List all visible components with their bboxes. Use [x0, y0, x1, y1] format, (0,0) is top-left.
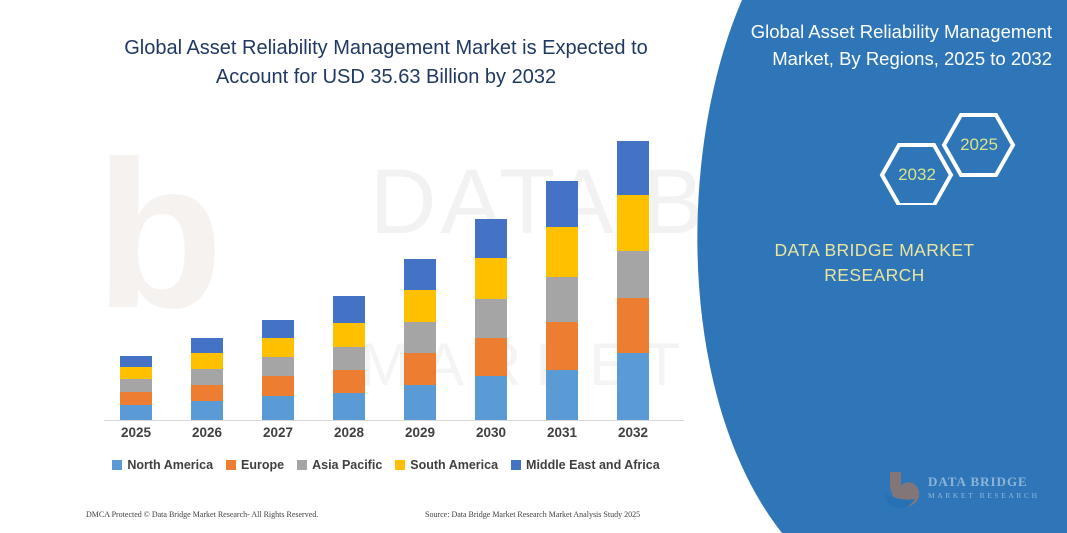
legend-swatch-icon: [112, 460, 122, 470]
bar-segment-asia-pacific: [262, 357, 294, 376]
bar-segment-south-america: [546, 227, 578, 277]
hexagon-group: 2032 2025: [667, 105, 1067, 205]
bar-segment-europe: [546, 322, 578, 370]
bar-segment-south-america: [333, 323, 365, 347]
x-label-2026: 2026: [177, 425, 237, 440]
legend-label: Europe: [241, 458, 284, 472]
hexagon-2025-label: 2025: [944, 135, 1014, 155]
bar-segment-middle-east-and-africa: [546, 181, 578, 227]
legend-item-south-america[interactable]: South America: [395, 458, 498, 472]
bar-segment-asia-pacific: [120, 379, 152, 392]
legend-label: South America: [410, 458, 498, 472]
bar-2031: [546, 181, 578, 420]
brand-name: DATA BRIDGE MARKET RESEARCH: [697, 238, 1052, 288]
legend-item-europe[interactable]: Europe: [226, 458, 284, 472]
x-label-2025: 2025: [106, 425, 166, 440]
logo-b-icon: [882, 470, 924, 510]
bar-2026: [191, 338, 223, 420]
bar-2029: [404, 259, 436, 420]
bar-segment-asia-pacific: [333, 347, 365, 370]
legend-swatch-icon: [395, 460, 405, 470]
bar-segment-north-america: [617, 353, 649, 420]
x-axis-labels: 20252026202720282029203020312032: [86, 425, 686, 447]
legend-item-asia-pacific[interactable]: Asia Pacific: [297, 458, 382, 472]
bar-segment-asia-pacific: [546, 277, 578, 322]
hexagon-2032-label: 2032: [882, 165, 952, 185]
brand-line1: DATA BRIDGE MARKET: [774, 240, 974, 260]
bar-segment-north-america: [191, 401, 223, 420]
bar-2027: [262, 320, 294, 420]
x-label-2027: 2027: [248, 425, 308, 440]
logo-text-line1: DATA BRIDGE: [928, 474, 1028, 490]
bar-segment-europe: [120, 392, 152, 405]
legend-item-middle-east-and-africa[interactable]: Middle East and Africa: [511, 458, 660, 472]
bar-segment-europe: [191, 385, 223, 401]
bar-segment-north-america: [404, 385, 436, 420]
bar-segment-middle-east-and-africa: [120, 356, 152, 367]
bar-segment-north-america: [262, 396, 294, 420]
bar-segment-south-america: [191, 353, 223, 369]
bar-segment-asia-pacific: [475, 299, 507, 338]
legend-swatch-icon: [511, 460, 521, 470]
x-label-2029: 2029: [390, 425, 450, 440]
bar-segment-europe: [262, 376, 294, 396]
legend-swatch-icon: [226, 460, 236, 470]
x-label-2032: 2032: [603, 425, 663, 440]
bar-segment-middle-east-and-africa: [475, 219, 507, 258]
bar-segment-middle-east-and-africa: [262, 320, 294, 338]
bar-segment-europe: [617, 298, 649, 353]
bar-segment-europe: [333, 370, 365, 393]
bar-segment-south-america: [475, 258, 507, 299]
bar-segment-asia-pacific: [404, 322, 436, 353]
right-panel: Global Asset Reliability Management Mark…: [667, 0, 1067, 533]
bar-2028: [333, 296, 365, 420]
stacked-bar-chart: [86, 110, 686, 430]
axis-baseline: [104, 420, 684, 421]
bar-segment-asia-pacific: [617, 251, 649, 298]
hexagon-shapes: [667, 105, 1067, 205]
bar-segment-middle-east-and-africa: [404, 259, 436, 290]
bar-segment-north-america: [475, 376, 507, 420]
bar-segment-middle-east-and-africa: [333, 296, 365, 323]
footer-source: Source: Data Bridge Market Research Mark…: [425, 510, 640, 519]
legend-label: North America: [127, 458, 213, 472]
bar-segment-north-america: [120, 405, 152, 420]
bar-segment-europe: [475, 338, 507, 376]
x-label-2031: 2031: [532, 425, 592, 440]
bar-segment-north-america: [333, 393, 365, 420]
footer-copyright: DMCA Protected © Data Bridge Market Rese…: [86, 510, 318, 519]
page-title: Global Asset Reliability Management Mark…: [86, 34, 686, 92]
bar-segment-asia-pacific: [191, 369, 223, 385]
bar-segment-south-america: [262, 338, 294, 357]
bar-2025: [120, 356, 152, 420]
legend-swatch-icon: [297, 460, 307, 470]
bar-segment-north-america: [546, 370, 578, 420]
legend-label: Asia Pacific: [312, 458, 382, 472]
brand-line2: RESEARCH: [697, 263, 1052, 288]
legend-label: Middle East and Africa: [526, 458, 660, 472]
bar-2030: [475, 219, 507, 420]
bar-segment-middle-east-and-africa: [617, 141, 649, 195]
bar-segment-south-america: [404, 290, 436, 322]
logo-text-line2: MARKET RESEARCH: [928, 491, 1040, 500]
bar-segment-europe: [404, 353, 436, 385]
chart-legend: North AmericaEuropeAsia PacificSouth Ame…: [86, 455, 686, 475]
legend-item-north-america[interactable]: North America: [112, 458, 213, 472]
bar-segment-south-america: [617, 195, 649, 251]
bar-segment-middle-east-and-africa: [191, 338, 223, 353]
bar-2032: [617, 141, 649, 420]
x-label-2030: 2030: [461, 425, 521, 440]
bar-segment-south-america: [120, 367, 152, 379]
company-logo: DATA BRIDGE MARKET RESEARCH: [882, 470, 1042, 512]
panel-heading: Global Asset Reliability Management Mark…: [697, 18, 1052, 72]
x-label-2028: 2028: [319, 425, 379, 440]
footer: DMCA Protected © Data Bridge Market Rese…: [0, 505, 700, 527]
